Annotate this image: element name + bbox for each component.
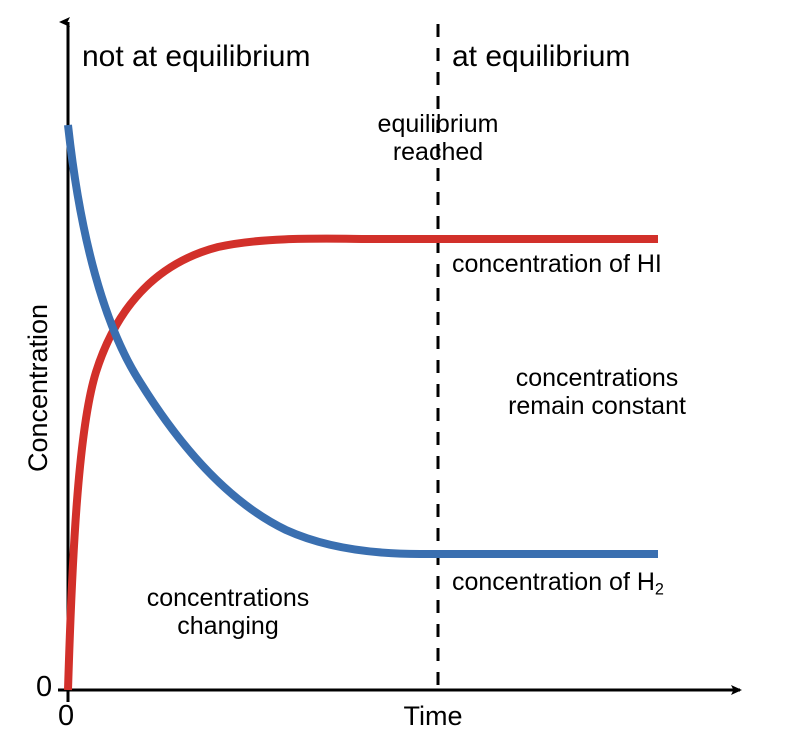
note-changing-line-1: concentrations (147, 584, 310, 612)
equilibrium-reached-line-2: reached (378, 138, 499, 166)
y-axis-title: Concentration (23, 304, 53, 472)
series-label-h2-text: concentration of H (452, 568, 655, 596)
equilibrium-concentration-chart: not at equilibrium at equilibrium equili… (0, 0, 800, 749)
series-line-h2 (68, 125, 658, 554)
series-label-hi: concentration of HI (452, 250, 662, 278)
series-label-h2-subscript: 2 (655, 581, 664, 599)
region-label-not-at-equilibrium: not at equilibrium (82, 40, 310, 74)
x-axis-tick-label-zero: 0 (58, 700, 74, 732)
note-constant-line-1: concentrations (508, 364, 686, 392)
note-concentrations-changing: concentrations changing (147, 584, 310, 640)
y-axis-tick-label-zero: 0 (36, 671, 52, 703)
note-constant-line-2: remain constant (508, 392, 686, 420)
note-changing-line-2: changing (147, 612, 310, 640)
region-label-at-equilibrium: at equilibrium (452, 40, 630, 74)
equilibrium-reached-line-1: equilibrium (378, 110, 499, 138)
series-label-h2: concentration of H2 (452, 568, 664, 599)
x-axis-title: Time (404, 701, 463, 731)
equilibrium-reached-annotation: equilibrium reached (378, 110, 499, 166)
note-concentrations-remain-constant: concentrations remain constant (508, 364, 686, 420)
